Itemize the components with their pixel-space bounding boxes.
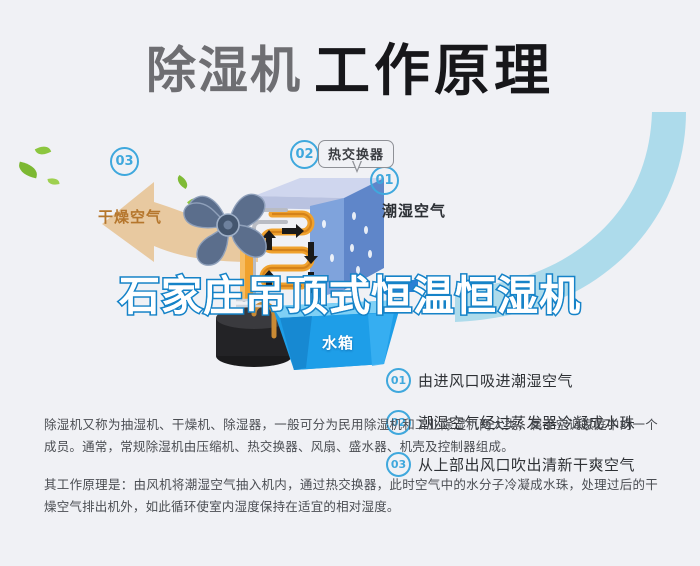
body-copy: 除湿机又称为抽湿机、干燥机、除湿器，一般可分为民用除湿机和工业除湿机两大类，属于… — [44, 414, 658, 534]
legend-item: 01 由进风口吸进潮湿空气 — [386, 368, 686, 393]
watermark-fill: 石家庄吊顶式恒温恒湿机 — [0, 262, 700, 322]
art-badge-01: 01 — [370, 166, 399, 195]
callout-tail-icon — [352, 161, 362, 173]
legend-badge-01: 01 — [386, 368, 411, 393]
page-title: 除湿机工作原理 — [0, 26, 700, 107]
legend-text-01: 由进风口吸进潮湿空气 — [418, 370, 573, 391]
art-badge-03: 03 — [110, 147, 139, 176]
title-part-two: 工作原理 — [314, 39, 554, 104]
dry-air-label: 干燥空气 — [98, 206, 162, 227]
paragraph-2: 其工作原理是：由风机将潮湿空气抽入机内，通过热交换器，此时空气中的水分子冷凝成水… — [44, 474, 658, 518]
leaf-icon — [17, 162, 39, 179]
humid-air-label: 潮湿空气 — [382, 200, 446, 221]
illustration-stage: 水箱 03 02 01 干燥空气 潮湿空气 热交换器 01 由进风口吸进潮湿空气… — [0, 120, 700, 390]
paragraph-1: 除湿机又称为抽湿机、干燥机、除湿器，一般可分为民用除湿机和工业除湿机两大类，属于… — [44, 414, 658, 458]
art-badge-02: 02 — [290, 140, 319, 169]
leaf-icon — [47, 177, 59, 186]
leaf-icon — [35, 143, 51, 157]
title-part-one: 除湿机 — [146, 42, 302, 100]
water-tank-label: 水箱 — [322, 332, 354, 353]
infographic-page: 除湿机工作原理 — [0, 0, 700, 566]
